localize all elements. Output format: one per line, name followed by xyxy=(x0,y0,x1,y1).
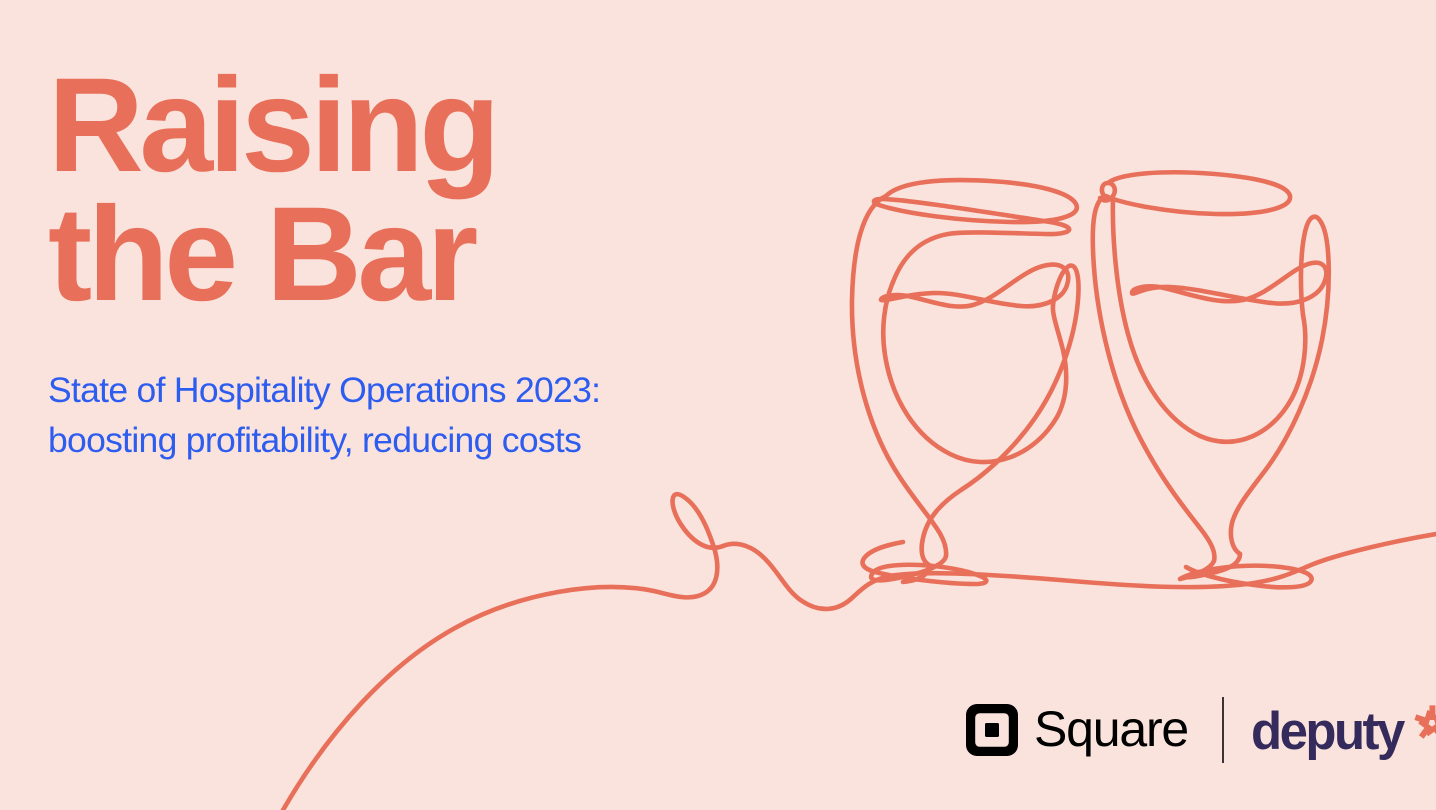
right-glass-inner-bowl xyxy=(1113,198,1305,442)
right-glass-stem xyxy=(1185,554,1240,577)
square-logo-mark xyxy=(966,704,1018,756)
right-glass-foot xyxy=(1180,561,1312,587)
hero-text-block: Raising the Bar State of Hospitality Ope… xyxy=(48,62,708,465)
logo-lockup: Square deputy xyxy=(966,693,1436,767)
deputy-pinwheel-mark xyxy=(1411,702,1436,744)
table-line xyxy=(723,534,1436,609)
logo-divider xyxy=(1222,697,1224,763)
deputy-wordmark: deputy xyxy=(1251,705,1403,758)
right-glass-rim xyxy=(1106,172,1290,214)
left-glass-outer-bowl xyxy=(852,196,946,556)
left-glass-wine-line xyxy=(881,265,1068,307)
left-glass-rim xyxy=(874,180,1077,282)
right-glass-outer-bowl xyxy=(1093,196,1215,561)
page-title: Raising the Bar xyxy=(48,62,701,319)
left-glass-stem xyxy=(903,565,929,582)
left-glass-right-wall xyxy=(922,266,1079,565)
right-glass-right-wall xyxy=(1231,217,1329,554)
decorative-loop xyxy=(283,494,723,810)
left-glass-inner-bowl xyxy=(883,282,1066,462)
right-glass-wine-line xyxy=(1132,263,1326,304)
title-slide: Raising the Bar State of Hospitality Ope… xyxy=(0,0,1436,810)
left-glass-foot xyxy=(863,542,987,584)
square-wordmark: Square xyxy=(1034,704,1188,754)
square-logo: Square xyxy=(966,704,1188,756)
deputy-logo: deputy xyxy=(1251,704,1436,757)
right-glass-rim-knot xyxy=(1100,183,1115,200)
page-subtitle: State of Hospitality Operations 2023: bo… xyxy=(48,319,708,465)
